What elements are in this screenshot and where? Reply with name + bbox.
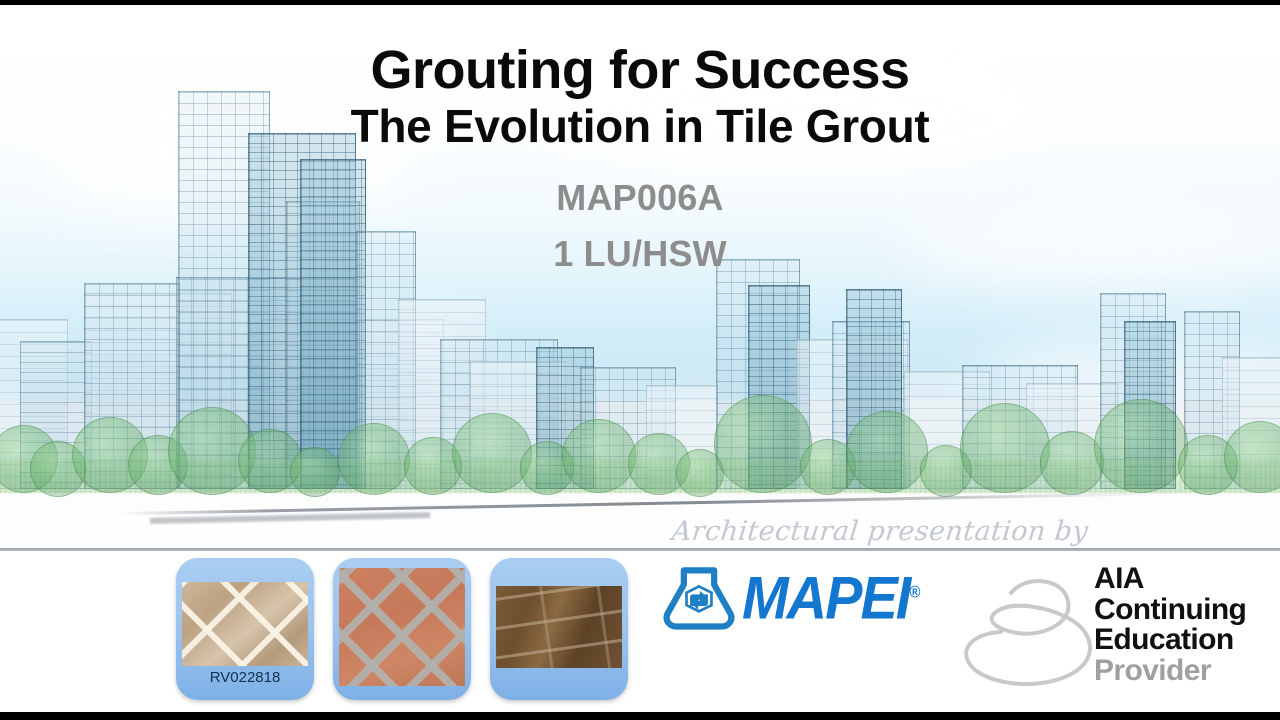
mapei-wordmark: MAPEI®: [742, 568, 920, 628]
cloud-shape: [560, 65, 1020, 175]
dark-wood-plank-tile-image: [496, 586, 622, 668]
beige-diagonal-tile-image: [182, 582, 308, 666]
tree-sphere: [1094, 399, 1188, 493]
tree-sphere: [290, 447, 340, 497]
tree-sphere: [714, 395, 812, 493]
attribution-script-text: Architectural presentation by: [670, 516, 1089, 547]
aia-line-3: Education: [1094, 625, 1246, 656]
aia-line-1: AIA: [1094, 564, 1246, 595]
tile-thumbnail-wood[interactable]: [490, 558, 628, 700]
registered-trademark-icon: ®: [909, 583, 920, 601]
tile-thumbnail-row: RV022818: [176, 558, 628, 700]
presentation-title-slide: Grouting for Success The Evolution in Ti…: [0, 0, 1280, 720]
tree-sphere: [846, 411, 928, 493]
terracotta-diagonal-tile-image: [339, 568, 465, 686]
hero-cityscape-illustration: [0, 5, 1280, 551]
swirl-e-mark-icon: [955, 563, 1105, 695]
revision-code-label: RV022818: [176, 669, 314, 686]
letterbox-top: [0, 0, 1280, 5]
letterbox-bottom: [0, 712, 1280, 720]
tree-sphere: [452, 413, 532, 493]
section-divider: [0, 548, 1280, 551]
tree-sphere: [960, 403, 1050, 493]
tile-thumbnail-beige[interactable]: RV022818: [176, 558, 314, 700]
tile-thumbnail-terracotta[interactable]: [333, 558, 471, 700]
aia-line-4: Provider: [1094, 656, 1246, 687]
tree-sphere: [562, 419, 636, 493]
mapei-recycling-flask-icon: [660, 565, 738, 631]
aia-ce-provider-logo: AIA Continuing Education Provider: [1094, 564, 1246, 686]
aia-line-2: Continuing: [1094, 595, 1246, 626]
tree-sphere: [338, 423, 410, 495]
mapei-logo: MAPEI®: [660, 565, 920, 631]
mapei-wordmark-text: MAPEI: [742, 563, 909, 631]
footer-bar: RV022818 MAPEI®: [0, 551, 1280, 712]
